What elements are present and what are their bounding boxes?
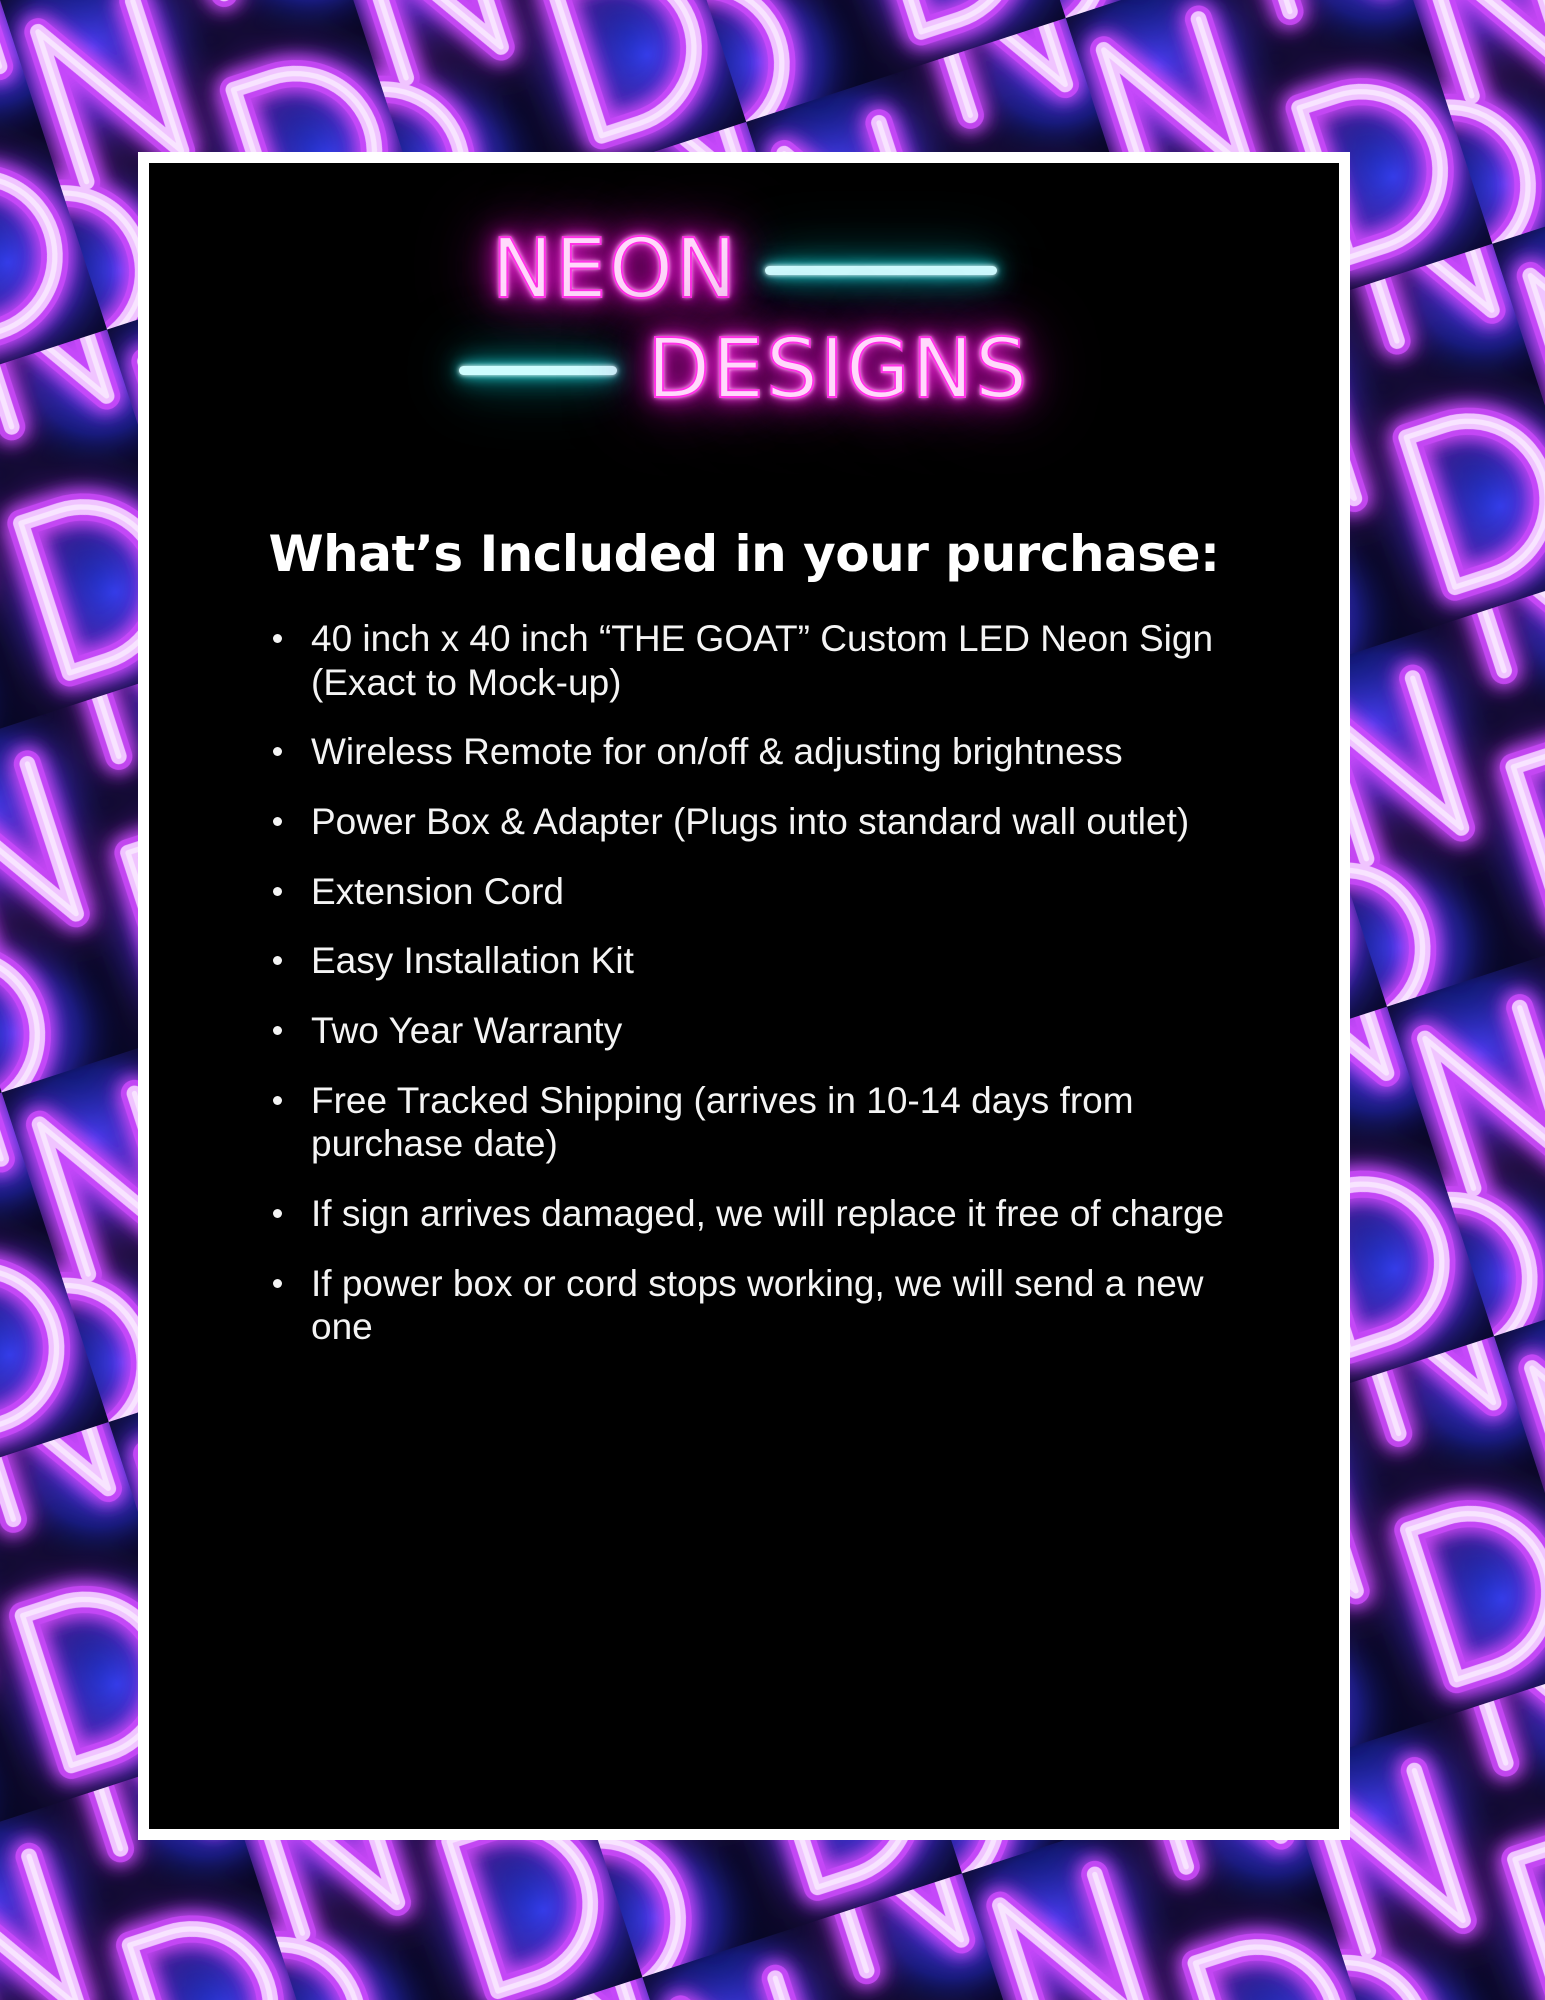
bullet-dot-icon <box>273 1279 282 1288</box>
list-item: Easy Installation Kit <box>269 939 1259 983</box>
bullet-dot-icon <box>273 887 282 896</box>
list-item-label: Wireless Remote for on/off & adjusting b… <box>311 731 1123 772</box>
bullet-dot-icon <box>273 1209 282 1218</box>
list-item: Wireless Remote for on/off & adjusting b… <box>269 730 1259 774</box>
list-item-label: If power box or cord stops working, we w… <box>311 1263 1204 1348</box>
bullet-dot-icon <box>273 634 282 643</box>
list-item: Two Year Warranty <box>269 1009 1259 1053</box>
poster-page: NEON DESIGNS What’s Included in your pur… <box>0 0 1545 2000</box>
list-item-label: 40 inch x 40 inch “THE GOAT” Custom LED … <box>311 618 1213 703</box>
list-item-label: Two Year Warranty <box>311 1010 622 1051</box>
list-item-label: Power Box & Adapter (Plugs into standard… <box>311 801 1189 842</box>
bullet-dot-icon <box>273 747 282 756</box>
list-item: Free Tracked Shipping (arrives in 10-14 … <box>269 1079 1259 1166</box>
list-item-label: Extension Cord <box>311 871 564 912</box>
list-item: If power box or cord stops working, we w… <box>269 1262 1259 1349</box>
list-item-label: Free Tracked Shipping (arrives in 10-14 … <box>311 1080 1134 1165</box>
logo-word-neon: NEON <box>491 229 738 311</box>
logo-row-bottom: DESIGNS <box>149 329 1339 411</box>
list-item: Extension Cord <box>269 870 1259 914</box>
cyan-dash-top-icon <box>765 266 997 275</box>
logo-row-top: NEON <box>149 229 1339 311</box>
bullet-dot-icon <box>273 817 282 826</box>
cyan-dash-bottom-icon <box>459 366 617 375</box>
content-card: NEON DESIGNS What’s Included in your pur… <box>138 152 1350 1840</box>
included-items-list: 40 inch x 40 inch “THE GOAT” Custom LED … <box>149 617 1339 1349</box>
list-item-label: Easy Installation Kit <box>311 940 634 981</box>
list-item: If sign arrives damaged, we will replace… <box>269 1192 1259 1236</box>
bullet-dot-icon <box>273 1096 282 1105</box>
bullet-dot-icon <box>273 956 282 965</box>
neon-designs-logo: NEON DESIGNS <box>149 221 1339 491</box>
list-item: 40 inch x 40 inch “THE GOAT” Custom LED … <box>269 617 1259 704</box>
bullet-dot-icon <box>273 1026 282 1035</box>
logo-word-designs: DESIGNS <box>647 329 1029 411</box>
list-item: Power Box & Adapter (Plugs into standard… <box>269 800 1259 844</box>
page-title: What’s Included in your purchase: <box>149 525 1339 583</box>
content-card-inner: NEON DESIGNS What’s Included in your pur… <box>149 163 1339 1829</box>
list-item-label: If sign arrives damaged, we will replace… <box>311 1193 1224 1234</box>
